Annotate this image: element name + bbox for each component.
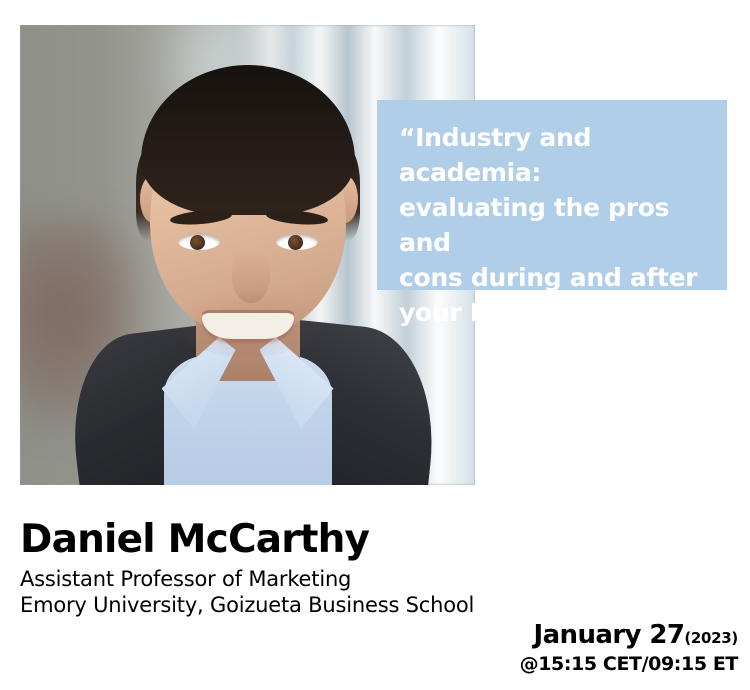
event-date-line: January 27(2023) [520, 620, 738, 653]
event-time: @15:15 CET/09:15 ET [520, 653, 738, 676]
smiling-mouth [202, 313, 294, 339]
speaker-announcement-card: “Industry and academia: evaluating the p… [0, 0, 750, 690]
nose [232, 251, 270, 303]
speaker-title: Assistant Professor of Marketing [20, 566, 540, 592]
speaker-affiliation: Emory University, Goizueta Business Scho… [20, 592, 540, 619]
quote-text: “Industry and academia: evaluating the p… [399, 120, 705, 330]
event-year: (2023) [684, 629, 738, 647]
iris-left [190, 235, 205, 250]
iris-right [288, 235, 303, 250]
speaker-info-block: Daniel McCarthy Assistant Professor of M… [20, 518, 540, 619]
event-date: January 27 [534, 620, 685, 650]
speaker-name: Daniel McCarthy [20, 518, 540, 562]
event-datetime-block: January 27(2023) @15:15 CET/09:15 ET [520, 620, 738, 676]
quote-callout-box: “Industry and academia: evaluating the p… [377, 100, 727, 290]
